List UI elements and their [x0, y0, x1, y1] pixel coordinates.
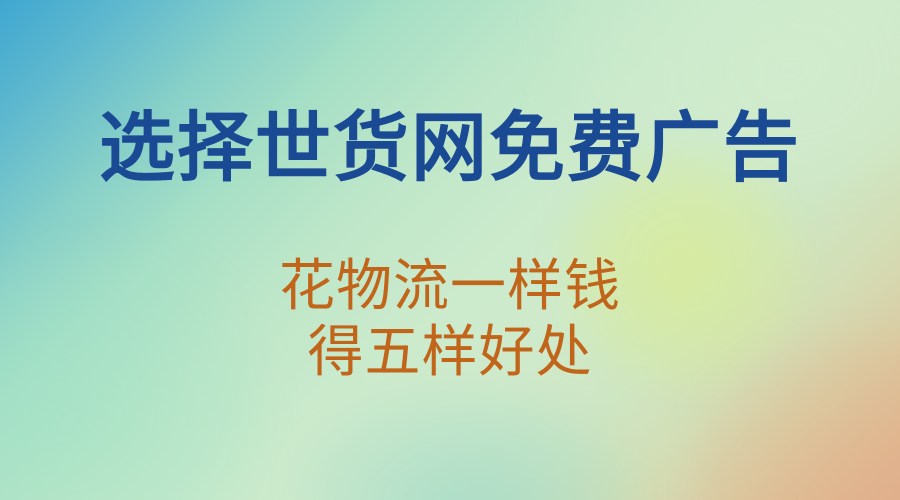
- banner-subtitle-line-1: 花物流一样钱: [0, 253, 900, 321]
- banner-headline: 选择世货网免费广告: [0, 105, 900, 191]
- banner-subtitle-line-2: 得五样好处: [0, 319, 900, 387]
- promo-banner: 选择世货网免费广告 花物流一样钱 得五样好处: [0, 0, 900, 500]
- banner-content: 选择世货网免费广告 花物流一样钱 得五样好处: [0, 0, 900, 500]
